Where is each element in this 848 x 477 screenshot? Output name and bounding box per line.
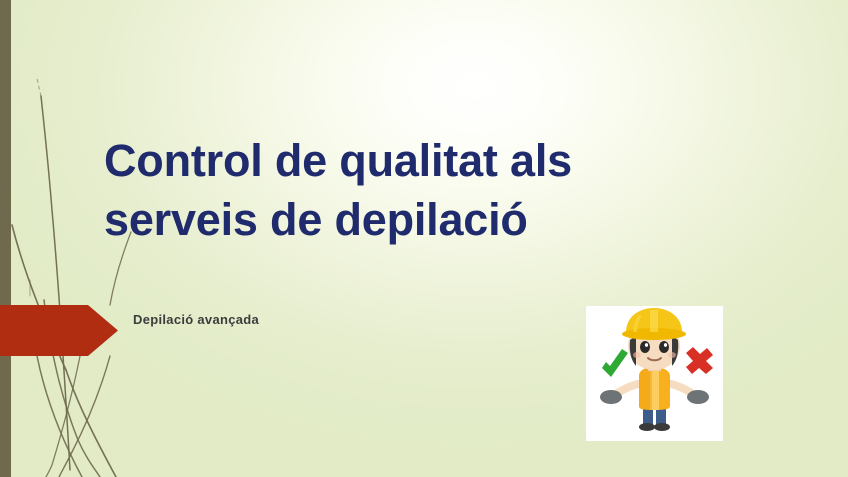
slide-title: Control de qualitat als serveis de depil… <box>104 131 724 250</box>
worker-illustration <box>586 306 723 441</box>
presentation-slide: Control de qualitat als serveis de depil… <box>0 0 848 477</box>
title-line-1: Control de qualitat als <box>104 131 724 190</box>
slide-subtitle: Depilació avançada <box>133 312 259 327</box>
title-line-2: serveis de depilació <box>104 190 724 249</box>
